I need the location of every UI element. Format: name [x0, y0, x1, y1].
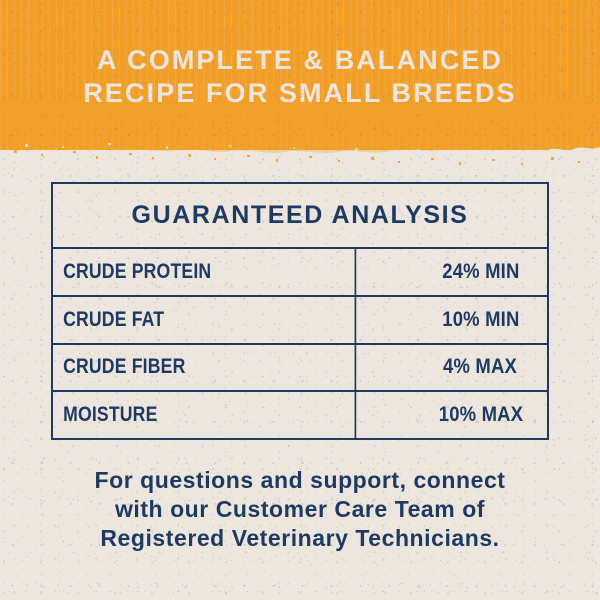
nutrient-amount: 4% MAX — [414, 345, 547, 391]
guaranteed-analysis-heading: GUARANTEED ANALYSIS — [53, 184, 547, 249]
nutrient-label: CRUDE FAT — [53, 297, 356, 343]
table-row: MOISTURE 10% MAX — [53, 392, 547, 438]
support-note-line-2: with our Customer Care Team of — [45, 495, 555, 524]
support-note-line-3: Registered Veterinary Technicians. — [45, 524, 555, 553]
support-note-line-1: For questions and support, connect — [45, 466, 555, 495]
table-row: CRUDE FAT 10% MIN — [53, 297, 547, 345]
header-title: A COMPLETE & BALANCED RECIPE FOR SMALL B… — [0, 44, 600, 110]
nutrient-label: CRUDE PROTEIN — [53, 249, 356, 295]
table-row: CRUDE FIBER 4% MAX — [53, 345, 547, 393]
guaranteed-analysis-table: GUARANTEED ANALYSIS CRUDE PROTEIN 24% MI… — [51, 182, 549, 440]
nutrient-amount: 10% MIN — [414, 297, 547, 343]
header-title-line-2: RECIPE FOR SMALL BREEDS — [0, 77, 600, 110]
nutrient-amount: 10% MAX — [414, 392, 547, 438]
nutrient-label: MOISTURE — [53, 392, 356, 438]
header-title-line-1: A COMPLETE & BALANCED — [0, 44, 600, 77]
table-row: CRUDE PROTEIN 24% MIN — [53, 249, 547, 297]
customer-support-note: For questions and support, connect with … — [45, 466, 555, 553]
nutrient-label: CRUDE FIBER — [53, 345, 356, 391]
nutrient-amount: 24% MIN — [414, 249, 547, 295]
product-label-panel: A COMPLETE & BALANCED RECIPE FOR SMALL B… — [0, 0, 600, 600]
